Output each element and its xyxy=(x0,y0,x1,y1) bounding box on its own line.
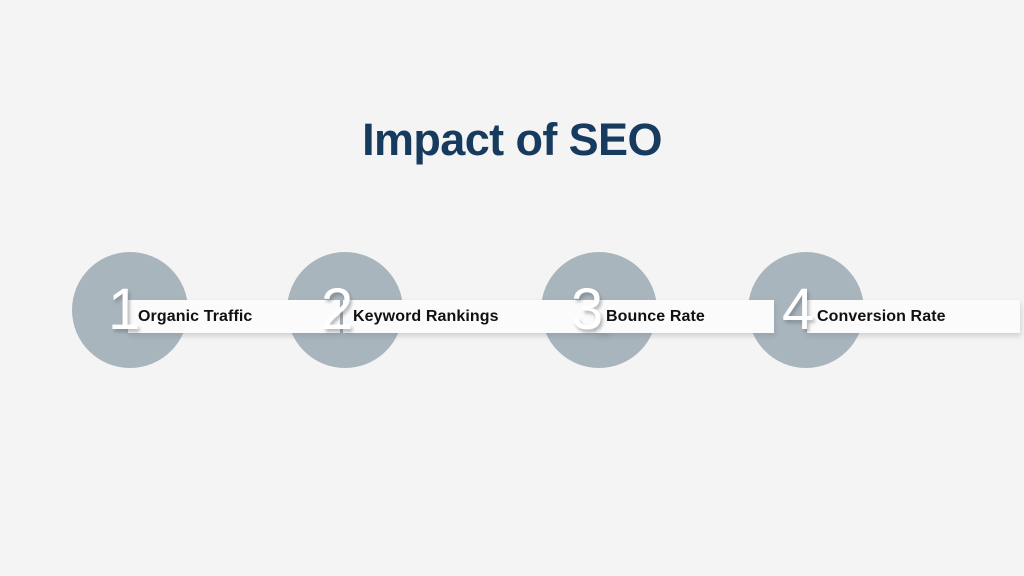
step-label-text-2: Keyword Rankings xyxy=(343,308,509,326)
steps-row: 1 Organic Traffic 2 Keyword Rankings 3 B… xyxy=(0,252,1024,372)
step-label-box-1[interactable]: Organic Traffic xyxy=(128,300,340,333)
step-item-4[interactable]: 4 Conversion Rate xyxy=(748,252,976,368)
step-label-box-3[interactable]: Bounce Rate xyxy=(596,300,774,333)
step-label-text-1: Organic Traffic xyxy=(128,308,262,326)
step-number-2: 2 xyxy=(321,281,353,339)
step-number-3: 3 xyxy=(571,281,603,339)
slide-canvas: Impact of SEO 1 Organic Traffic 2 Keywor… xyxy=(0,0,1024,576)
step-label-box-4[interactable]: Conversion Rate xyxy=(807,300,1020,333)
step-label-text-4: Conversion Rate xyxy=(807,308,956,326)
page-title: Impact of SEO xyxy=(0,112,1024,168)
step-label-text-3: Bounce Rate xyxy=(596,308,715,326)
step-number-4: 4 xyxy=(782,281,814,339)
step-item-3[interactable]: 3 Bounce Rate xyxy=(541,252,736,368)
step-item-2[interactable]: 2 Keyword Rankings xyxy=(287,252,527,368)
step-item-1[interactable]: 1 Organic Traffic xyxy=(72,252,272,368)
step-label-box-2[interactable]: Keyword Rankings xyxy=(343,300,608,333)
step-number-1: 1 xyxy=(108,281,140,339)
